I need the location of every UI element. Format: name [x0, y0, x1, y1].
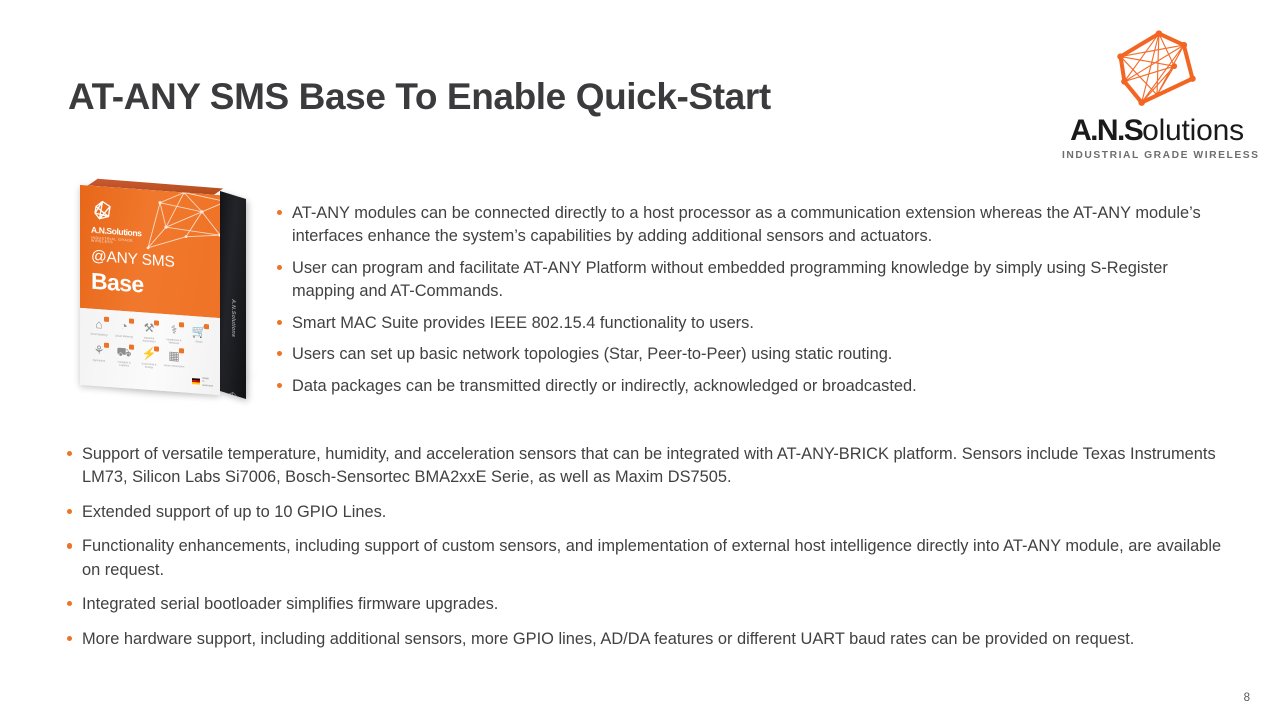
pictogram-caption: Transport & Logistics [113, 360, 135, 368]
box-variant-name: Base [91, 270, 144, 297]
badge-text: Made in Germany [202, 377, 213, 388]
page-title: AT-ANY SMS Base To Enable Quick-Start [68, 76, 771, 118]
bullet-list-bottom: Support of versatile temperature, humidi… [62, 443, 1242, 662]
pictogram-caption: Smart Building [88, 332, 110, 340]
pictogram-item: ⚘Agriculture [88, 341, 110, 366]
mesh-network-polyhedron-icon [1062, 24, 1252, 116]
logo-word-an: A.N. [1070, 114, 1124, 147]
list-item: Users can set up basic network topologie… [272, 343, 1212, 366]
retail-cart-icon: 🛒 [188, 323, 210, 341]
pictogram-caption: Home Automation [163, 364, 185, 372]
pictogram-item: ◔Smart Metering [113, 317, 135, 342]
industry-icon: ⚒ [138, 319, 160, 337]
box-orange-panel: A.N.Solutions INDUSTRIAL GRADE WIRELESS … [80, 185, 220, 318]
list-item: User can program and facilitate AT-ANY P… [272, 257, 1212, 304]
list-item: Extended support of up to 10 GPIO Lines. [62, 501, 1242, 524]
box-spine-face: A.N.Solutions [220, 191, 246, 399]
agriculture-icon: ⚘ [88, 341, 110, 359]
box-product-line: @ANY SMS [91, 249, 175, 271]
pictogram-item: ⚕Healthcare & Wellness [163, 321, 185, 346]
healthcare-icon: ⚕ [163, 321, 185, 339]
bullet-list-top: AT-ANY modules can be connected directly… [272, 202, 1212, 406]
logo-word-olutions: olutions [1142, 114, 1244, 147]
box-front-face: A.N.Solutions INDUSTRIAL GRADE WIRELESS … [80, 185, 220, 395]
list-item: Smart MAC Suite provides IEEE 802.15.4 f… [272, 312, 1212, 335]
box-white-panel: ⌂Smart Building ◔Smart Metering ⚒Industr… [80, 308, 220, 395]
box-logo-mesh-icon [91, 198, 115, 224]
list-item: Integrated serial bootloader simplifies … [62, 593, 1242, 616]
pictogram-caption: Smart Metering [113, 334, 135, 342]
list-item: More hardware support, including additio… [62, 628, 1242, 651]
pictogram-item: ⌂Smart Building [88, 315, 110, 340]
product-box-image: A.N.Solutions [72, 186, 272, 411]
security-icon: ▦ [163, 347, 185, 365]
pictogram-item: ▦Home Automation [163, 347, 185, 372]
made-in-germany-badge: Made in Germany [192, 376, 213, 388]
smart-home-icon: ⌂ [88, 315, 110, 333]
badge-line-3: Germany [202, 383, 213, 387]
list-item: Data packages can be transmitted directl… [272, 375, 1212, 398]
box-spine-logo-icon [228, 389, 239, 399]
pictogram-caption: Healthcare & Wellness [163, 338, 185, 346]
pictogram-caption: Industrial Automation [138, 336, 160, 344]
pictogram-item: ⚡Smart Grid & Energy [138, 345, 160, 370]
logo-tagline: INDUSTRIAL GRADE WIRELESS [1062, 150, 1252, 161]
pictogram-item: ⚒Industrial Automation [138, 319, 160, 344]
pictogram-caption: Agriculture [88, 358, 110, 366]
metering-icon: ◔ [113, 317, 135, 335]
list-item: Functionality enhancements, including su… [62, 535, 1242, 582]
page-number: 8 [1244, 692, 1250, 704]
german-flag-icon [192, 378, 200, 385]
box-spine-text: A.N.Solutions [230, 298, 236, 338]
box-brand-logo: A.N.Solutions INDUSTRIAL GRADE WIRELESS [91, 198, 149, 248]
energy-icon: ⚡ [138, 345, 160, 363]
company-logo: A.N.Solutions INDUSTRIAL GRADE WIRELESS [1062, 24, 1252, 161]
logistics-icon: ⛟ [113, 343, 135, 361]
pictogram-item: 🛒Retail [188, 323, 210, 348]
box-3d-wrap: A.N.Solutions [72, 186, 272, 411]
box-pictogram-grid: ⌂Smart Building ◔Smart Metering ⚒Industr… [88, 315, 212, 373]
pictogram-item: ⛟Transport & Logistics [113, 343, 135, 368]
pictogram-caption: Retail [188, 340, 210, 348]
list-item: AT-ANY modules can be connected directly… [272, 202, 1212, 249]
pictogram-caption: Smart Grid & Energy [138, 362, 160, 370]
logo-word-s: S [1124, 114, 1142, 147]
logo-wordmark: A.N.Solutions [1062, 116, 1252, 146]
list-item: Support of versatile temperature, humidi… [62, 443, 1242, 490]
